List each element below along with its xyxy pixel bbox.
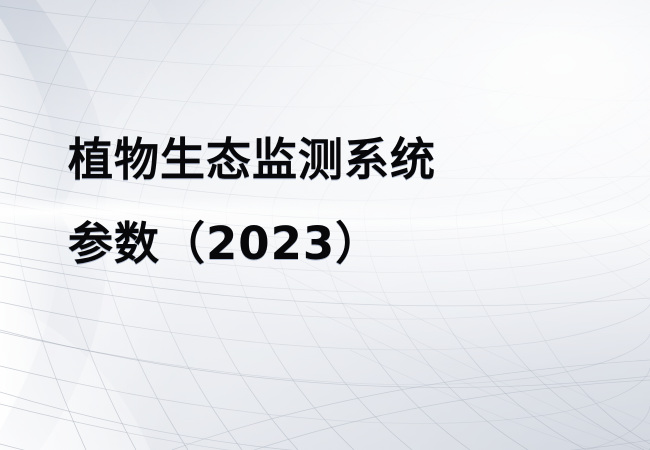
title-line-2: 参数（2023） [68, 202, 608, 286]
title-line-1: 植物生态监测系统 [68, 118, 608, 202]
slide-title: 植物生态监测系统 参数（2023） [68, 118, 608, 286]
title-slide: 植物生态监测系统 参数（2023） [0, 0, 650, 450]
